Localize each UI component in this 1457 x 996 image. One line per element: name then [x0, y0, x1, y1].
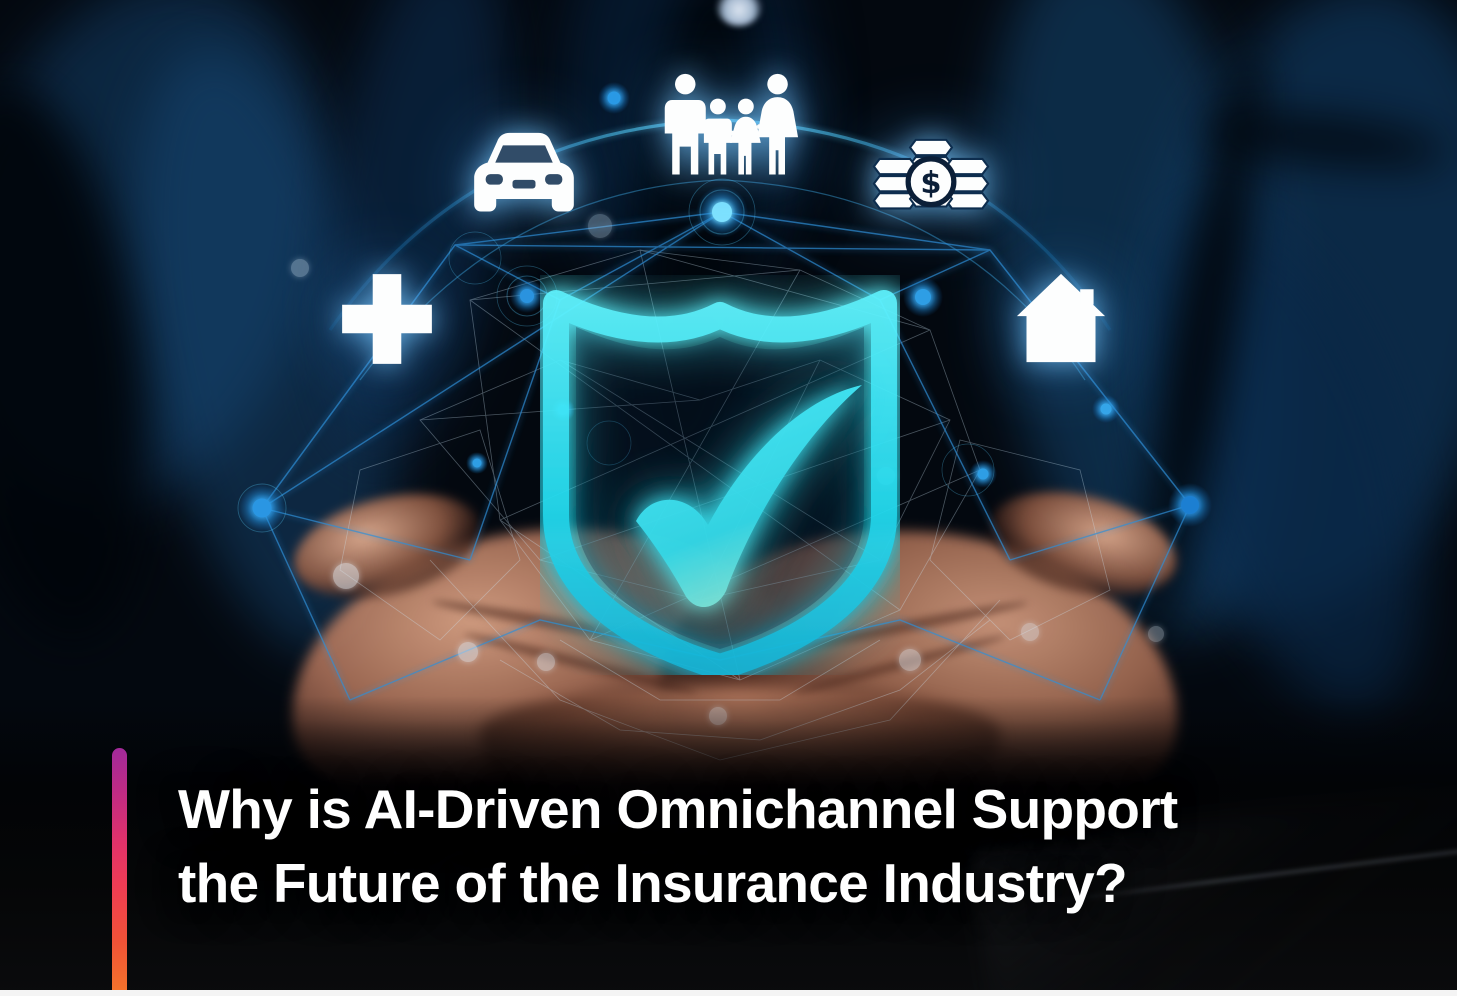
page-title-line-2: the Future of the Insurance Industry? [178, 846, 1408, 920]
car-icon [466, 130, 582, 222]
bottom-strip [0, 990, 1457, 996]
family-icon [660, 72, 800, 182]
shield-check-icon [540, 275, 900, 675]
page-title: Why is AI-Driven Omnichannel Support the… [178, 772, 1408, 920]
coins-money-icon: $ [872, 136, 990, 218]
dollar-symbol: $ [920, 166, 941, 201]
house-icon [1012, 272, 1110, 364]
medical-cross-icon [336, 268, 438, 370]
hero-banner: $ Why is AI-Driven Omnichannel Support t… [0, 0, 1457, 996]
page-title-line-1: Why is AI-Driven Omnichannel Support [178, 772, 1408, 846]
gradient-accent-bar [112, 748, 127, 996]
